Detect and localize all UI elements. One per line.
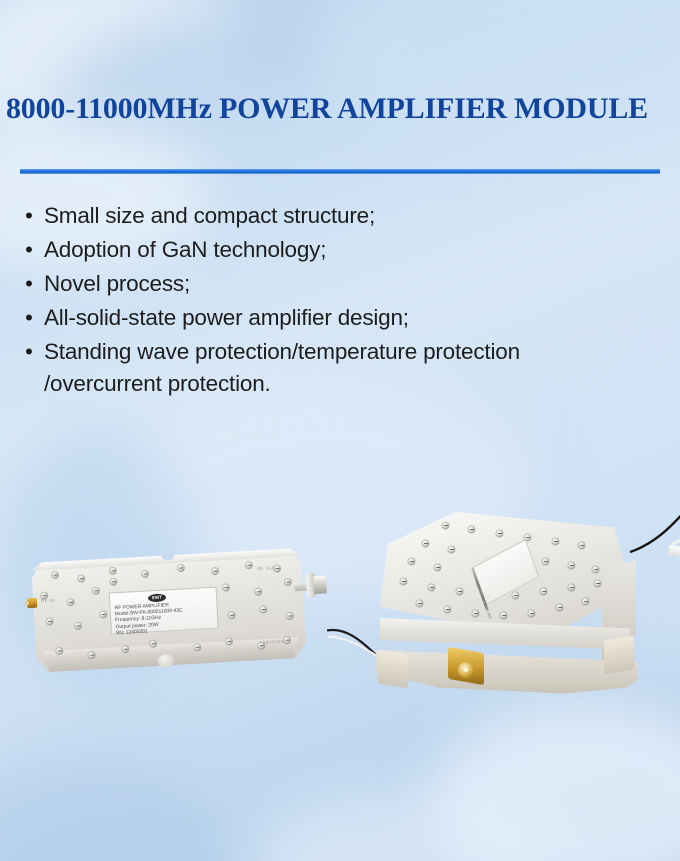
screw [442,522,449,529]
screw [496,530,503,537]
list-item: • Adoption of GaN technology; [14,234,674,266]
list-item: • Novel process; [14,268,674,300]
housing-base-plate [376,650,638,702]
screw [456,588,463,595]
product-image-left: RF IN RF OUT +28V/GND SWT RF POWER AMPLI… [20,537,327,694]
screw [512,592,519,599]
sky-background [0,0,680,861]
screw [428,584,435,591]
screw [552,538,559,545]
screw [408,558,415,565]
screw [444,606,451,613]
product-label-left: SWT RF POWER AMPLIFIER Model:SW-PA-80001… [109,587,219,635]
page-title: 8000-11000MHz POWER AMPLIFIER MODULE [6,92,674,126]
screw [568,562,575,569]
bullet-icon: • [14,302,44,334]
mounting-flange [378,650,408,689]
housing-boss [157,654,175,668]
bullet-icon: • [14,268,44,300]
cloud-wisp [0,760,220,861]
screw [468,526,475,533]
title-divider [20,169,660,174]
screw [472,610,479,617]
screw [568,584,575,591]
screw [542,558,549,565]
list-item: • Standing wave protection/temperature p… [14,336,674,400]
screw [594,580,601,587]
list-item-label: Adoption of GaN technology; [44,234,326,266]
screw [540,588,547,595]
rf-out-label: RF OUT [257,565,276,571]
cloud-wisp [330,0,680,150]
screw [434,564,441,571]
screw [556,604,563,611]
screw [500,612,507,619]
screw [416,600,423,607]
rf-input-connector [25,597,38,610]
product-image-right: RF POWER AMPLIFIER Model:SW-PA-800011000… [372,500,662,720]
list-item-label: All-solid-state power amplifier design; [44,302,409,334]
feature-list: • Small size and compact structure; • Ad… [14,200,674,402]
rf-output-connector [294,571,329,599]
list-item-label: Standing wave protection/temperature pro… [44,336,520,368]
screw [448,546,455,553]
screw [582,598,589,605]
screw [592,566,599,573]
mounting-flange [604,636,634,675]
list-item: • All-solid-state power amplifier design… [14,302,674,334]
brand-logo-icon: SWT [148,593,166,602]
brand-logo-text: SWT [148,593,166,602]
bullet-icon: • [14,336,44,368]
screw [528,610,535,617]
product-banner: 8000-11000MHz POWER AMPLIFIER MODULE • S… [0,0,680,861]
list-item-label-cont: /overcurrent protection. [44,368,520,400]
bullet-icon: • [14,234,44,266]
screw [422,540,429,547]
bullet-icon: • [14,200,44,232]
rf-input-connector [444,648,488,688]
list-item-label: Small size and compact structure; [44,200,375,232]
screw [400,578,407,585]
screw [578,542,585,549]
list-item: • Small size and compact structure; [14,200,674,232]
list-item-label: Novel process; [44,268,190,300]
rf-in-label: RF IN [41,598,55,604]
